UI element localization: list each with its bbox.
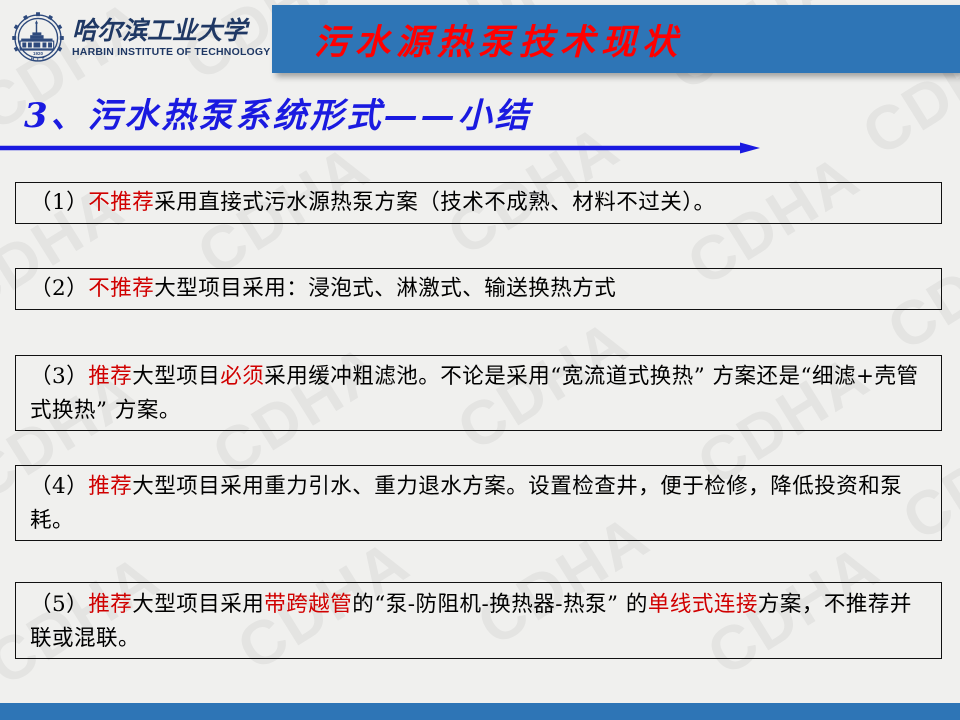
emphasis-text: 单线式连接 (648, 592, 758, 617)
body-text: （3） (30, 364, 88, 389)
heading-arrow-rule-icon (0, 142, 760, 154)
summary-box-2-text: （2）不推荐大型项目采用：浸泡式、淋激式、输送换热方式 (16, 272, 626, 306)
body-text: （5） (30, 592, 88, 617)
body-text: （4） (30, 474, 88, 499)
emphasis-text: 带跨越管 (264, 592, 352, 617)
logo-chinese-name: 哈尔滨工业大学 (72, 18, 271, 44)
emblem-year-text: 1920 (33, 51, 43, 56)
emphasis-text: 推荐 (88, 474, 132, 499)
emphasis-text: 推荐 (88, 364, 132, 389)
summary-box-3: （3）推荐大型项目必须采用缓冲粗滤池。不论是采用“宽流道式换热” 方案还是“细滤… (15, 355, 942, 431)
summary-box-4-text: （4）推荐大型项目采用重力引水、重力退水方案。设置检查井，便于检修，降低投资和泵… (16, 468, 941, 538)
summary-box-1-text: （1）不推荐采用直接式污水源热泵方案（技术不成熟、材料不过关）。 (16, 186, 725, 220)
summary-box-2: （2）不推荐大型项目采用：浸泡式、淋激式、输送换热方式 (15, 268, 942, 310)
emblem-initials-text: H I T (31, 57, 46, 63)
hit-gear-emblem-icon: 1920 H I T (10, 10, 66, 66)
emphasis-text: 推荐 (88, 592, 132, 617)
page-title: 3、污水热泵系统形式——小结 (24, 88, 532, 137)
summary-box-5-text: （5）推荐大型项目采用带跨越管的“泵-防阻机-换热器-热泵” 的单线式连接方案，… (16, 586, 941, 656)
body-text: 大型项目采用 (132, 592, 264, 617)
slide-canvas: CDHA CDHA CDHA CDHA CDHA CDHA CDHA CDHA … (0, 0, 960, 720)
logo-english-name: HARBIN INSTITUTE OF TECHNOLOGY (72, 46, 271, 58)
university-logo: 1920 H I T 哈尔滨工业大学 HARBIN INSTITUTE OF T… (10, 9, 271, 67)
title-banner: 污水源热泵技术现状 (272, 5, 960, 73)
body-text: 大型项目采用重力引水、重力退水方案。设置检查井，便于检修，降低投资和泵耗。 (30, 474, 902, 533)
summary-box-4: （4）推荐大型项目采用重力引水、重力退水方案。设置检查井，便于检修，降低投资和泵… (15, 465, 942, 541)
body-text: 大型项目 (132, 364, 220, 389)
footer-bar (0, 703, 960, 720)
body-text: （1） (30, 190, 88, 215)
emphasis-text: 不推荐 (88, 190, 154, 215)
summary-box-5: （5）推荐大型项目采用带跨越管的“泵-防阻机-换热器-热泵” 的单线式连接方案，… (15, 582, 942, 659)
logo-wordmark: 哈尔滨工业大学 HARBIN INSTITUTE OF TECHNOLOGY (72, 18, 271, 58)
body-text: 大型项目采用：浸泡式、淋激式、输送换热方式 (154, 276, 616, 301)
body-text: 的“泵-防阻机-换热器-热泵” 的 (352, 592, 648, 617)
emphasis-text: 不推荐 (88, 276, 154, 301)
body-text: （2） (30, 276, 88, 301)
banner-title-text: 污水源热泵技术现状 (314, 14, 683, 65)
emphasis-text: 必须 (220, 364, 264, 389)
summary-box-1: （1）不推荐采用直接式污水源热泵方案（技术不成熟、材料不过关）。 (15, 182, 942, 224)
summary-box-3-text: （3）推荐大型项目必须采用缓冲粗滤池。不论是采用“宽流道式换热” 方案还是“细滤… (16, 358, 941, 428)
body-text: 采用直接式污水源热泵方案（技术不成熟、材料不过关）。 (154, 190, 715, 215)
